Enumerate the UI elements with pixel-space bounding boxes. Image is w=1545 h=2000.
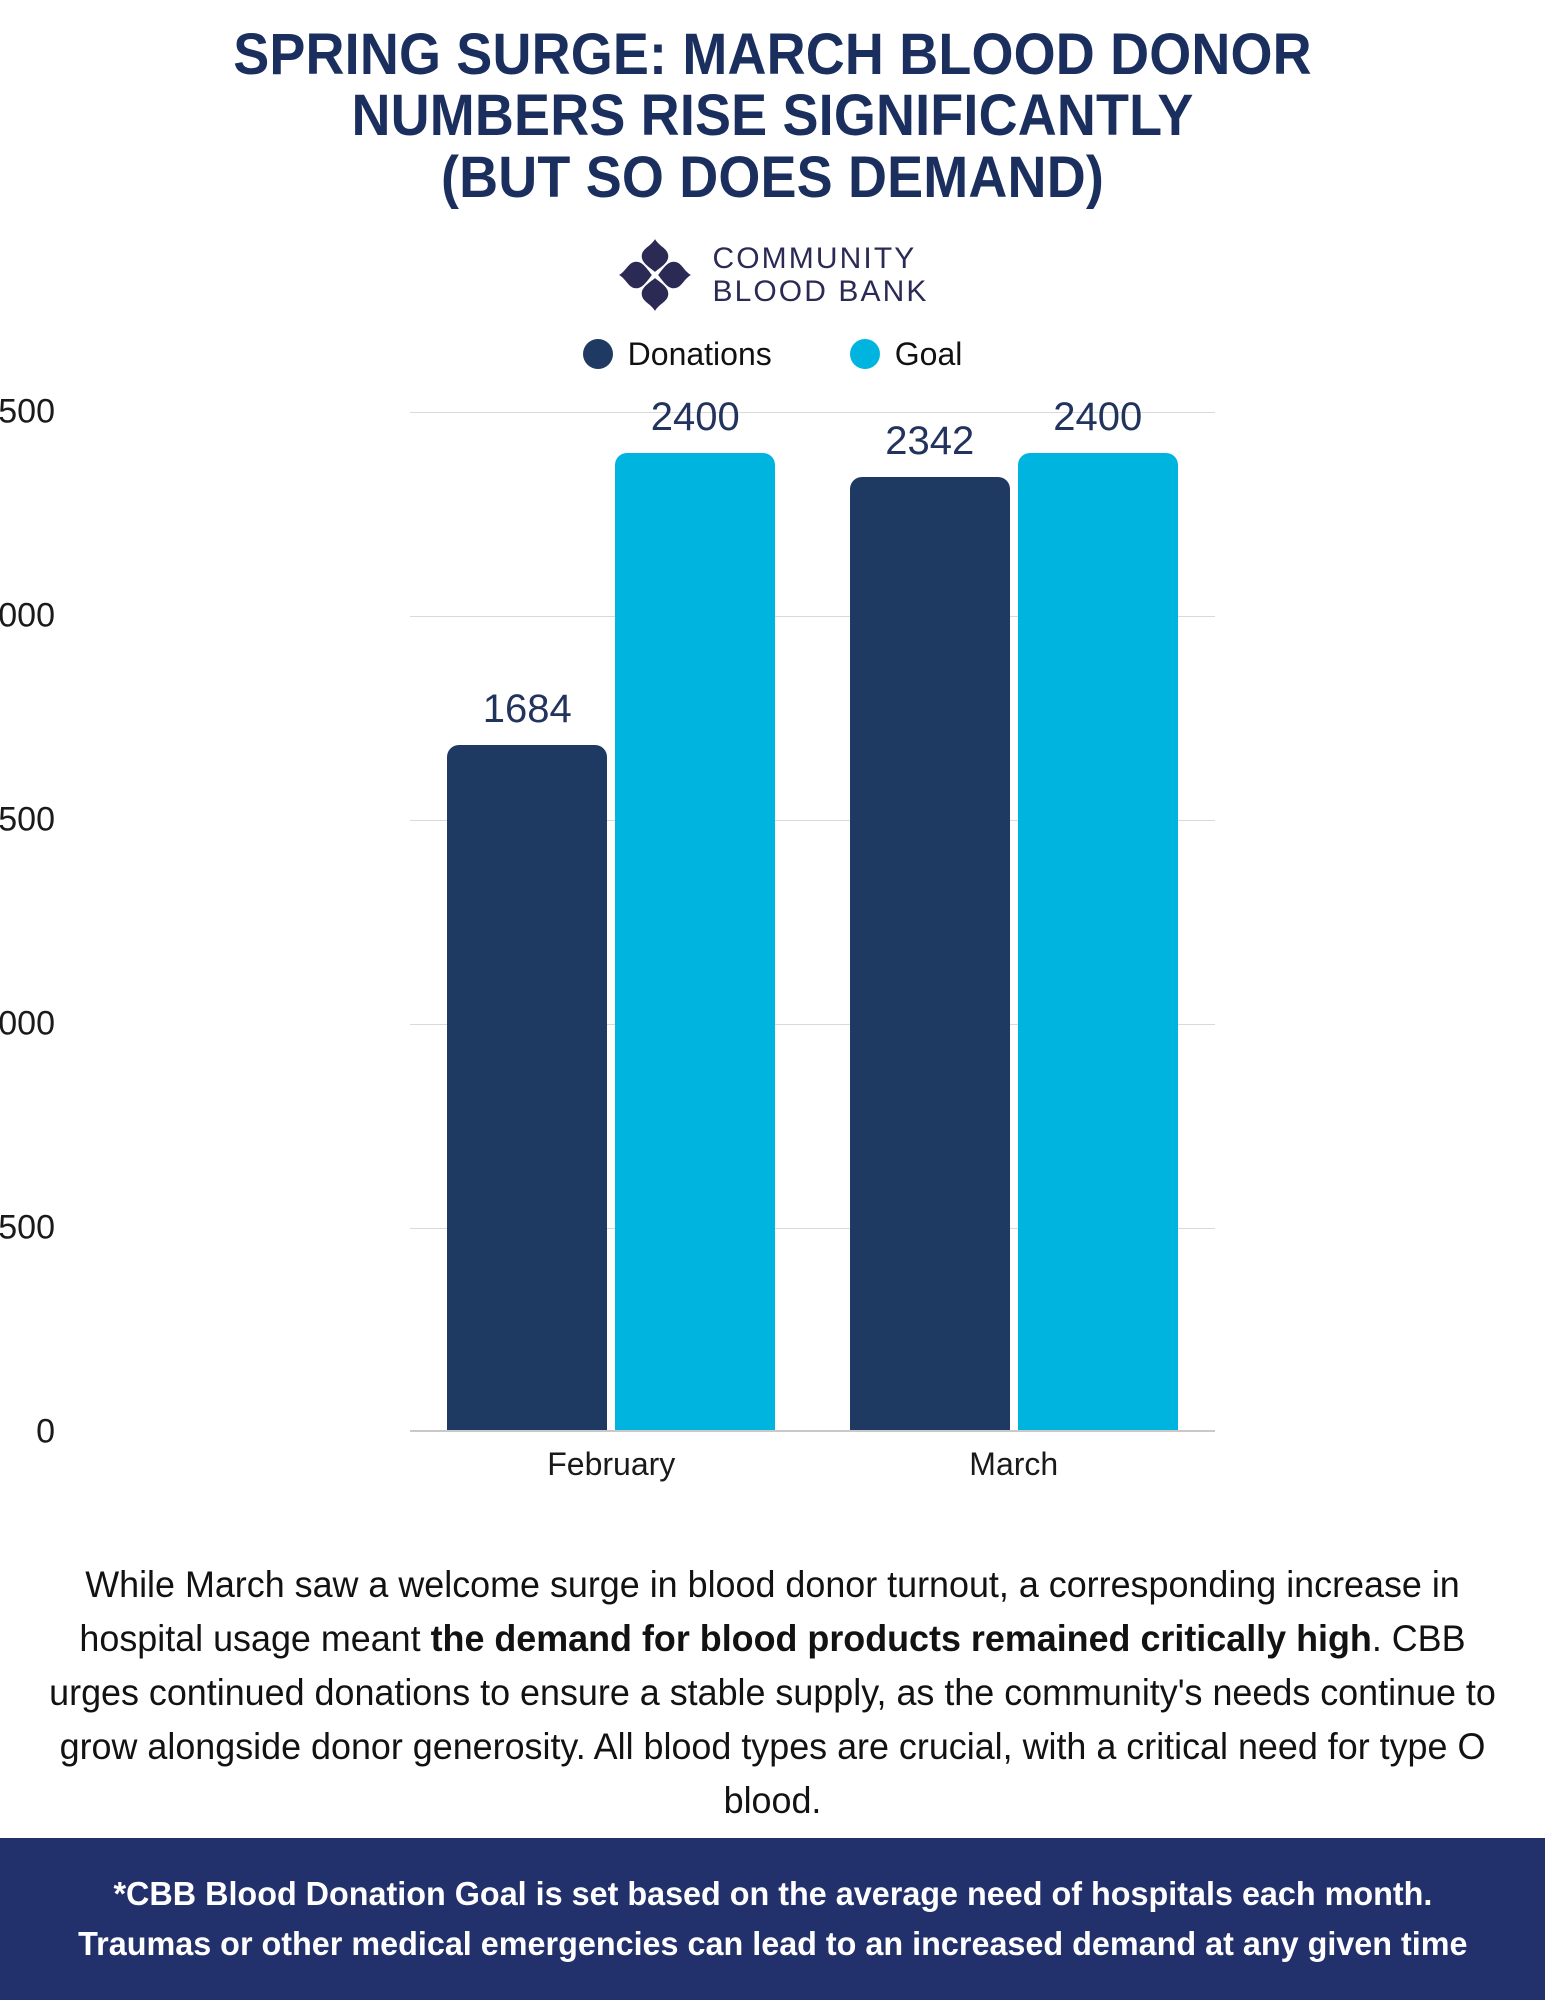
bar-value-label: 2400 bbox=[1053, 395, 1142, 440]
y-axis-tick-label: 500 bbox=[0, 1209, 55, 1248]
four-hearts-diamond-icon bbox=[616, 236, 694, 314]
y-axis-tick-label: 1500 bbox=[0, 801, 55, 840]
legend-swatch-goal-icon bbox=[850, 339, 880, 369]
legend-label-goal: Goal bbox=[895, 336, 963, 373]
bar-donations-march[interactable] bbox=[850, 477, 1010, 1433]
y-axis-tick-label: 1000 bbox=[0, 1005, 55, 1044]
legend-swatch-donations-icon bbox=[583, 339, 613, 369]
page-title-line-3: (BUT SO DOES DEMAND) bbox=[91, 147, 1453, 208]
body-paragraph: While March saw a welcome surge in blood… bbox=[23, 1558, 1522, 1828]
brand-logo: COMMUNITY BLOOD BANK bbox=[0, 234, 1545, 316]
y-axis-tick-label: 2000 bbox=[0, 597, 55, 636]
bar-value-label: 2342 bbox=[885, 419, 974, 464]
body-text-bold: the demand for blood products remained c… bbox=[431, 1618, 1372, 1659]
y-axis-tick-label: 0 bbox=[0, 1413, 55, 1452]
legend-item-donations[interactable]: Donations bbox=[583, 336, 772, 373]
footnote-line-1: *CBB Blood Donation Goal is set based on… bbox=[113, 1874, 1432, 1914]
bar-chart: 05001000150020002500 1684240023422400 Fe… bbox=[0, 382, 1545, 1502]
page-title-line-1: SPRING SURGE: MARCH BLOOD DONOR bbox=[91, 24, 1453, 85]
bar-value-label: 2400 bbox=[651, 395, 740, 440]
chart-axis-baseline bbox=[410, 1430, 1215, 1432]
footnote-line-2: Traumas or other medical emergencies can… bbox=[78, 1924, 1467, 1964]
chart-legend: Donations Goal bbox=[0, 332, 1545, 376]
bar-donations-february[interactable] bbox=[447, 745, 607, 1432]
page-title: SPRING SURGE: MARCH BLOOD DONOR NUMBERS … bbox=[0, 0, 1545, 208]
footnote-band: *CBB Blood Donation Goal is set based on… bbox=[0, 1838, 1545, 2000]
bar-goal-march[interactable] bbox=[1018, 453, 1178, 1432]
legend-item-goal[interactable]: Goal bbox=[850, 336, 963, 373]
page-title-line-2: NUMBERS RISE SIGNIFICANTLY bbox=[91, 85, 1453, 146]
chart-plot-area: 05001000150020002500 1684240023422400 Fe… bbox=[410, 412, 1215, 1432]
x-axis-label-march: March bbox=[969, 1446, 1058, 1483]
brand-logo-line-2: BLOOD BANK bbox=[712, 275, 928, 309]
bar-goal-february[interactable] bbox=[615, 453, 775, 1432]
legend-label-donations: Donations bbox=[628, 336, 772, 373]
brand-logo-text: COMMUNITY BLOOD BANK bbox=[712, 242, 928, 309]
brand-logo-line-1: COMMUNITY bbox=[712, 242, 928, 276]
y-axis-tick-label: 2500 bbox=[0, 393, 55, 432]
bar-value-label: 1684 bbox=[483, 687, 572, 732]
x-axis-label-february: February bbox=[547, 1446, 675, 1483]
